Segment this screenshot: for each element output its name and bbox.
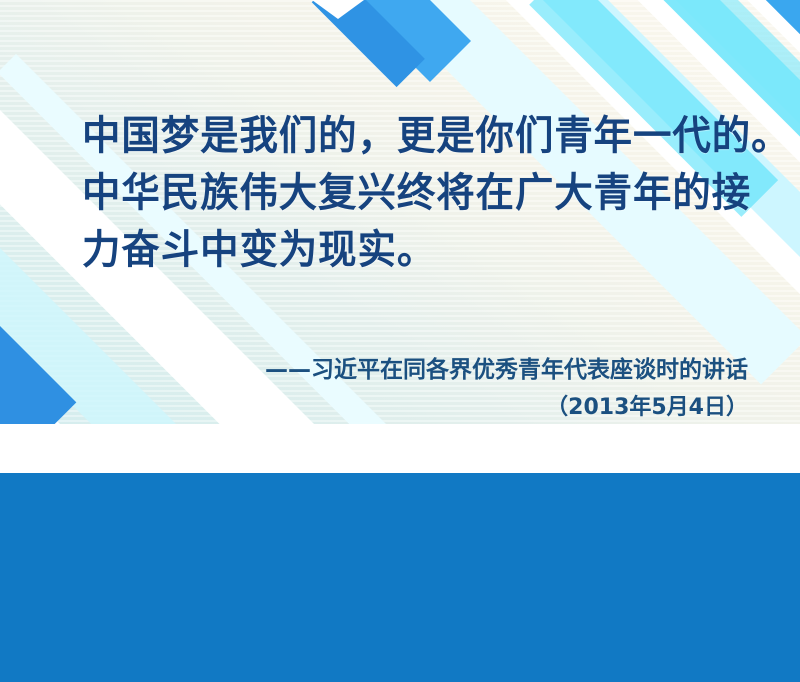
decorative-notch-triangle bbox=[312, 0, 364, 19]
headline-line-1: 中国梦是我们的，更是你们青年一代的。 bbox=[82, 108, 716, 165]
section-divider bbox=[0, 424, 800, 473]
footer-bar: WWW.12371.CN bbox=[0, 473, 800, 682]
attribution-source: ——习近平在同各界优秀青年代表座谈时的讲话 bbox=[128, 352, 748, 389]
poster-root: 中国梦是我们的，更是你们青年一代的。 中华民族伟大复兴终将在广大青年的接 力奋斗… bbox=[0, 0, 800, 682]
attribution-date: （2013年5月4日） bbox=[128, 389, 748, 426]
headline-line-3: 力奋斗中变为现实。 bbox=[82, 222, 716, 279]
poster-headline: 中国梦是我们的，更是你们青年一代的。 中华民族伟大复兴终将在广大青年的接 力奋斗… bbox=[82, 108, 716, 279]
headline-line-2: 中华民族伟大复兴终将在广大青年的接 bbox=[82, 165, 716, 222]
poster-attribution: ——习近平在同各界优秀青年代表座谈时的讲话 （2013年5月4日） bbox=[128, 352, 748, 426]
